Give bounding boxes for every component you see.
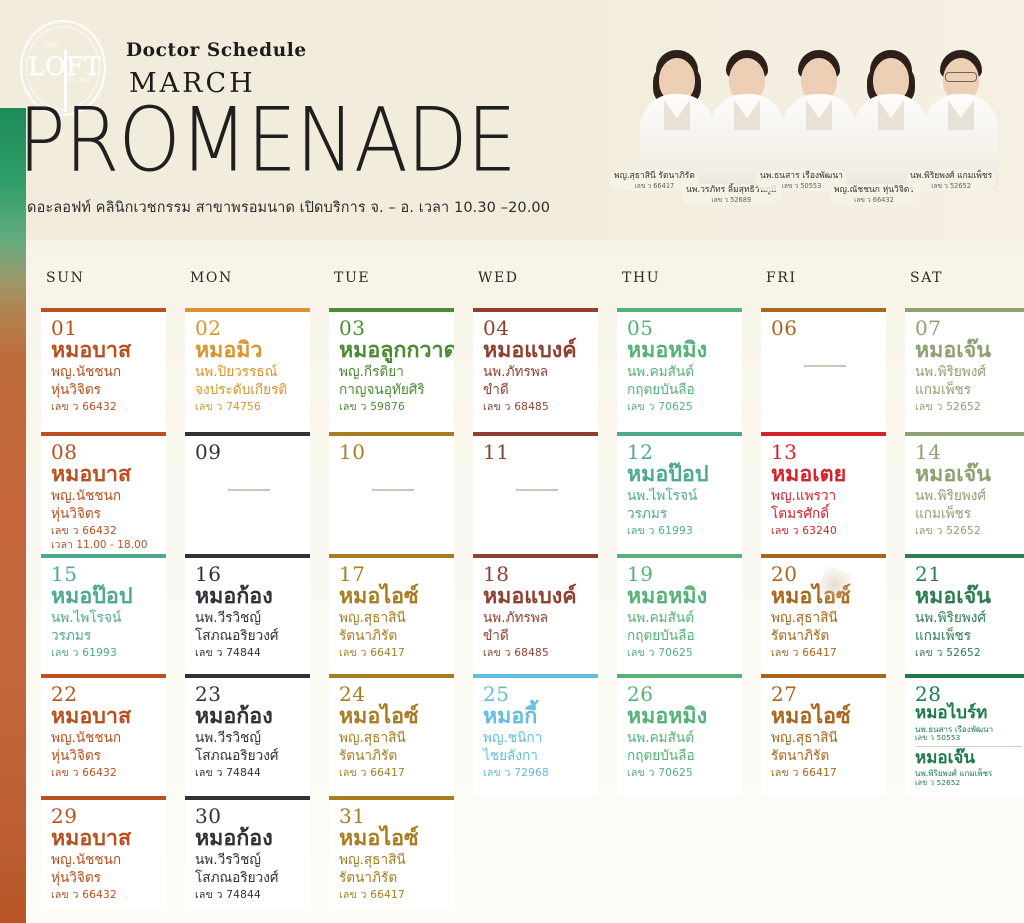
calendar-day-cell-17[interactable]: 17หมอไอซ์พญ.สุธาสินีรัตนาภิรัตเลข ว 6641…: [329, 554, 454, 674]
doctor-photo-strip: พญ.สุธาสินี รัตนาภิรัตเลข ว 66417นพ.วรภั…: [624, 8, 1024, 208]
day-number: 30: [195, 806, 302, 827]
logo-the-text: THE: [44, 42, 59, 49]
doctor-license: เลข ว 70625: [627, 401, 734, 415]
doctor-license: เลข ว 74756: [195, 401, 302, 415]
weekday-header-wed: WED: [478, 270, 519, 286]
doctor-nickname: หมอหมิง: [627, 338, 734, 363]
doctor-license: เลข ว 68485: [483, 647, 590, 661]
doctor-license: เลข ว 66432: [51, 525, 158, 539]
doctor-fullname: นพ.พิริยพงศ์แกมเพ็ชร: [915, 610, 1022, 645]
day-number: 11: [483, 442, 590, 463]
weekday-header-sat: SAT: [910, 270, 943, 286]
calendar-day-cell-16[interactable]: 16หมอก้องนพ.วีรวิชญ์โสภณอริยวงศ์เลข ว 74…: [185, 554, 310, 674]
doctor-fullname: นพ.วีรวิชญ์โสภณอริยวงศ์: [195, 730, 302, 765]
doctor-nickname: หมอเตย: [771, 462, 878, 487]
doctor-photo-caption-5: นพ.พิริยพงศ์ แกมเพ็ชรเลข ว 52652: [906, 170, 996, 191]
day-number: 04: [483, 318, 590, 339]
day-number: 23: [195, 684, 302, 705]
doctor-license: เลข ว 72968: [483, 767, 590, 781]
doctor-nickname: หมอบาส: [51, 826, 158, 851]
calendar-day-cell-30[interactable]: 30หมอก้องนพ.วีรวิชญ์โสภณอริยวงศ์เลข ว 74…: [185, 796, 310, 909]
day-number: 02: [195, 318, 302, 339]
doctor-nickname: หมอลูกกวาด: [339, 338, 446, 363]
day-number: 10: [339, 442, 446, 463]
calendar-column-thu: 05หมอหมิงนพ.คมสันต์กฤตยบันลือเลข ว 70625…: [617, 308, 742, 796]
logo-wordmark: LOFT: [28, 52, 98, 81]
doctor-fullname: พญ.นัชชนกหุ่นวิจิตร: [51, 364, 158, 399]
calendar-day-cell-05[interactable]: 05หมอหมิงนพ.คมสันต์กฤตยบันลือเลข ว 70625: [617, 308, 742, 432]
doctor-license: เลข ว 74844: [195, 889, 302, 903]
day-number: 16: [195, 564, 302, 585]
doctor-fullname: พญ.นัชชนกหุ่นวิจิตร: [51, 730, 158, 765]
doctor-fullname: นพ.ภัทรพลขำดี: [483, 364, 590, 399]
calendar-day-cell-20[interactable]: 20หมอไอซ์พญ.สุธาสินีรัตนาภิรัตเลข ว 6641…: [761, 554, 886, 674]
day-number: 12: [627, 442, 734, 463]
doctor-fullname: นพ.คมสันต์กฤตยบันลือ: [627, 610, 734, 645]
calendar-column-wed: 04หมอแบงค์นพ.ภัทรพลขำดีเลข ว 684851118หม…: [473, 308, 598, 796]
calendar-day-cell-19[interactable]: 19หมอหมิงนพ.คมสันต์กฤตยบันลือเลข ว 70625: [617, 554, 742, 674]
calendar-day-cell-22[interactable]: 22หมอบาสพญ.นัชชนกหุ่นวิจิตรเลข ว 66432: [41, 674, 166, 796]
doctor-photo-name: พญ.ณัชชนก หุ่นวิจิตร: [834, 185, 914, 196]
calendar-day-cell-06[interactable]: 06: [761, 308, 886, 432]
doctor-fullname: นพ.วีรวิชญ์โสภณอริยวงศ์: [195, 610, 302, 645]
doctor-nickname: หมอไอซ์: [771, 704, 878, 729]
day-number: 27: [771, 684, 878, 705]
doctor-fullname: พญ.สุธาสินีรัตนาภิรัต: [339, 852, 446, 887]
doctor-photo-caption-4: พญ.ณัชชนก หุ่นวิจิตรเลข ว 66432: [830, 184, 918, 205]
calendar-day-cell-09[interactable]: 09: [185, 432, 310, 554]
doctor-fullname: พญ.แพรวาโตมรศักดิ์: [771, 488, 878, 523]
doctor-license: เลข ว 70625: [627, 767, 734, 781]
calendar-day-cell-08[interactable]: 08หมอบาสพญ.นัชชนกหุ่นวิจิตรเลข ว 66432เว…: [41, 432, 166, 554]
day-number: 22: [51, 684, 158, 705]
weekday-header-mon: MON: [190, 270, 233, 286]
weekday-header-tue: TUE: [334, 270, 370, 286]
calendar-column-mon: 02หมอมิวนพ.ปิยวรรธณ์จงประดับเกียรติเลข ว…: [185, 308, 310, 909]
doctor-license-secondary: เลข ว 52652: [915, 779, 1022, 788]
day-number: 14: [915, 442, 1022, 463]
day-number: 05: [627, 318, 734, 339]
doctor-nickname: หมอป๊อป: [51, 584, 158, 609]
calendar-day-cell-01[interactable]: 01หมอบาสพญ.นัชชนกหุ่นวิจิตรเลข ว 66432: [41, 308, 166, 432]
calendar-column-sun: 01หมอบาสพญ.นัชชนกหุ่นวิจิตรเลข ว 6643208…: [41, 308, 166, 909]
doctor-nickname: หมอป๊อป: [627, 462, 734, 487]
calendar-day-cell-26[interactable]: 26หมอหมิงนพ.คมสันต์กฤตยบันลือเลข ว 70625: [617, 674, 742, 796]
doctor-license: เลข ว 61993: [627, 525, 734, 539]
doctor-nickname: หมอไอซ์: [339, 584, 446, 609]
weekday-header-thu: THU: [622, 270, 660, 286]
doctor-nickname: หมอหมิง: [627, 584, 734, 609]
calendar-day-cell-03[interactable]: 03หมอลูกกวาดพญ.กีรติยากาญจนอุทัยศิริเลข …: [329, 308, 454, 432]
doctor-license: เลข ว 66432: [51, 767, 158, 781]
doctor-license: เลข ว 70625: [627, 647, 734, 661]
day-number: 01: [51, 318, 158, 339]
doctor-nickname: หมอไอซ์: [339, 704, 446, 729]
day-number: 07: [915, 318, 1022, 339]
calendar-day-cell-31[interactable]: 31หมอไอซ์พญ.สุธาสินีรัตนาภิรัตเลข ว 6641…: [329, 796, 454, 909]
left-gradient-spine: [0, 108, 26, 923]
calendar-column-sat: 07หมอเจ๊นนพ.พิริยพงศ์แกมเพ็ชรเลข ว 52652…: [905, 308, 1024, 796]
day-number: 26: [627, 684, 734, 705]
doctor-entry-separator: [915, 746, 1022, 747]
doctor-photo-name: พญ.สุธาสินี รัตนาภิรัต: [614, 171, 695, 182]
header-band: THE LOFT CLINIC Doctor Schedule MARCH PR…: [0, 0, 1024, 240]
doctor-nickname: หมอบาส: [51, 338, 158, 363]
doctor-license: เลข ว 68485: [483, 401, 590, 415]
calendar-day-cell-10[interactable]: 10: [329, 432, 454, 554]
doctor-license: เลข ว 50553: [915, 734, 1022, 743]
day-number: 17: [339, 564, 446, 585]
eyebrow-doctor-schedule: Doctor Schedule: [126, 40, 307, 61]
doctor-nickname: หมอไอซ์: [771, 584, 878, 609]
doctor-fullname: นพ.วีรวิชญ์โสภณอริยวงศ์: [195, 852, 302, 887]
doctor-photo-name: นพ.พิริยพงศ์ แกมเพ็ชร: [910, 171, 992, 182]
doctor-nickname: หมอมิว: [195, 338, 302, 363]
doctor-fullname: นพ.ปิยวรรธณ์จงประดับเกียรติ: [195, 364, 302, 399]
doctor-fullname: พญ.สุธาสินีรัตนาภิรัต: [339, 610, 446, 645]
doctor-fullname: พญ.นัชชนกหุ่นวิจิตร: [51, 852, 158, 887]
calendar-day-cell-02[interactable]: 02หมอมิวนพ.ปิยวรรธณ์จงประดับเกียรติเลข ว…: [185, 308, 310, 432]
calendar-day-cell-07[interactable]: 07หมอเจ๊นนพ.พิริยพงศ์แกมเพ็ชรเลข ว 52652: [905, 308, 1024, 432]
doctor-license: เลข ว 52652: [915, 647, 1022, 661]
doctor-license: เลข ว 66417: [771, 767, 878, 781]
day-number: 13: [771, 442, 878, 463]
weekday-header-sun: SUN: [46, 270, 84, 286]
day-number: 15: [51, 564, 158, 585]
doctor-fullname: พญ.สุธาสินีรัตนาภิรัต: [771, 610, 878, 645]
doctor-license: เลข ว 74844: [195, 767, 302, 781]
doctor-time-note: เวลา 11.00 - 18.00: [51, 539, 158, 553]
day-number: 28: [915, 684, 1022, 705]
branch-title: PROMENADE: [18, 100, 516, 181]
doctor-fullname: นพ.คมสันต์กฤตยบันลือ: [627, 730, 734, 765]
doctor-nickname: หมอไอซ์: [339, 826, 446, 851]
doctor-license: เลข ว 63240: [771, 525, 878, 539]
doctor-nickname: หมอเจ๊น: [915, 462, 1022, 487]
doctor-nickname: หมอบาส: [51, 704, 158, 729]
doctor-photo-license: เลข ว 52689: [686, 196, 777, 204]
glasses-icon: [945, 72, 977, 82]
no-doctor-dash: [372, 489, 414, 491]
calendar-grid: SUNMONTUEWEDTHUFRISAT 01หมอบาสพญ.นัชชนกห…: [0, 240, 1024, 923]
calendar-day-cell-14[interactable]: 14หมอเจ๊นนพ.พิริยพงศ์แกมเพ็ชรเลข ว 52652: [905, 432, 1024, 554]
doctor-license: เลข ว 66417: [339, 647, 446, 661]
doctor-nickname: หมอเจ๊น: [915, 584, 1022, 609]
logo-clinic-text: CLINIC: [68, 78, 92, 84]
calendar-day-cell-15[interactable]: 15หมอป๊อปนพ.ไพโรจน์วรภมรเลข ว 61993: [41, 554, 166, 674]
doctor-fullname: นพ.ไพโรจน์วรภมร: [51, 610, 158, 645]
day-number: 18: [483, 564, 590, 585]
doctor-nickname: หมอแบงค์: [483, 584, 590, 609]
doctor-fullname: นพ.พิริยพงศ์แกมเพ็ชร: [915, 488, 1022, 523]
no-doctor-dash: [228, 489, 270, 491]
doctor-license: เลข ว 52652: [915, 401, 1022, 415]
doctor-photo-name: นพ.ธนสาร เรืองพัฒนา: [760, 171, 843, 182]
calendar-day-cell-11[interactable]: 11: [473, 432, 598, 554]
clinic-hours-subtitle: เดอะลอฟท์ คลินิกเวชกรรม สาขาพรอมนาด เปิด…: [22, 196, 550, 219]
doctor-nickname: หมอกี้: [483, 704, 590, 729]
calendar-day-cell-12[interactable]: 12หมอป๊อปนพ.ไพโรจน์วรภมรเลข ว 61993: [617, 432, 742, 554]
calendar-day-cell-28[interactable]: 28หมอไบร์ทนพ.ธนสาร เรืองพัฒนาเลข ว 50553…: [905, 674, 1024, 796]
calendar-day-cell-23[interactable]: 23หมอก้องนพ.วีรวิชญ์โสภณอริยวงศ์เลข ว 74…: [185, 674, 310, 796]
day-number: 20: [771, 564, 878, 585]
doctor-nickname: หมอแบงค์: [483, 338, 590, 363]
day-number: 25: [483, 684, 590, 705]
doctor-license: เลข ว 66417: [339, 767, 446, 781]
day-number: 08: [51, 442, 158, 463]
doctor-nickname: หมอไบร์ท: [915, 704, 1022, 724]
doctor-fullname: นพ.พิริยพงศ์แกมเพ็ชร: [915, 364, 1022, 399]
calendar-column-tue: 03หมอลูกกวาดพญ.กีรติยากาญจนอุทัยศิริเลข …: [329, 308, 454, 909]
day-number: 31: [339, 806, 446, 827]
calendar-day-cell-25[interactable]: 25หมอกี้พญ.ชนิกาไชยลังกาเลข ว 72968: [473, 674, 598, 796]
doctor-license: เลข ว 66432: [51, 401, 158, 415]
day-number: 29: [51, 806, 158, 827]
day-number: 09: [195, 442, 302, 463]
doctor-nickname: หมอก้อง: [195, 704, 302, 729]
doctor-license: เลข ว 74844: [195, 647, 302, 661]
doctor-license: เลข ว 61993: [51, 647, 158, 661]
doctor-nickname: หมอก้อง: [195, 826, 302, 851]
no-doctor-dash: [804, 365, 846, 367]
calendar-day-cell-21[interactable]: 21หมอเจ๊นนพ.พิริยพงศ์แกมเพ็ชรเลข ว 52652: [905, 554, 1024, 674]
doctor-fullname: พญ.กีรติยากาญจนอุทัยศิริ: [339, 364, 446, 399]
doctor-nickname: หมอหมิง: [627, 704, 734, 729]
weekday-header-row: SUNMONTUEWEDTHUFRISAT: [0, 270, 1024, 296]
day-number: 24: [339, 684, 446, 705]
doctor-photo-license: เลข ว 66432: [834, 196, 914, 204]
doctor-nickname: หมอบาส: [51, 462, 158, 487]
calendar-day-cell-13[interactable]: 13หมอเตยพญ.แพรวาโตมรศักดิ์เลข ว 63240: [761, 432, 886, 554]
doctor-fullname: นพ.ไพโรจน์วรภมร: [627, 488, 734, 523]
doctor-fullname: นพ.คมสันต์กฤตยบันลือ: [627, 364, 734, 399]
calendar-column-fri: 0613หมอเตยพญ.แพรวาโตมรศักดิ์เลข ว 632402…: [761, 308, 886, 796]
doctor-fullname: พญ.สุธาสินีรัตนาภิรัต: [339, 730, 446, 765]
doctor-license: เลข ว 66417: [339, 889, 446, 903]
doctor-license: เลข ว 66417: [771, 647, 878, 661]
doctor-fullname: พญ.ชนิกาไชยลังกา: [483, 730, 590, 765]
day-number: 06: [771, 318, 878, 339]
day-number: 21: [915, 564, 1022, 585]
calendar-day-cell-04[interactable]: 04หมอแบงค์นพ.ภัทรพลขำดีเลข ว 68485: [473, 308, 598, 432]
doctor-nickname: หมอก้อง: [195, 584, 302, 609]
doctor-license: เลข ว 66432: [51, 889, 158, 903]
calendar-day-cell-18[interactable]: 18หมอแบงค์นพ.ภัทรพลขำดีเลข ว 68485: [473, 554, 598, 674]
day-number: 03: [339, 318, 446, 339]
calendar-day-cell-29[interactable]: 29หมอบาสพญ.นัชชนกหุ่นวิจิตรเลข ว 66432: [41, 796, 166, 909]
doctor-photo-5: [916, 40, 1006, 190]
weekday-header-fri: FRI: [766, 270, 797, 286]
doctor-nickname: หมอเจ๊น: [915, 338, 1022, 363]
doctor-fullname: พญ.สุธาสินีรัตนาภิรัต: [771, 730, 878, 765]
calendar-day-cell-27[interactable]: 27หมอไอซ์พญ.สุธาสินีรัตนาภิรัตเลข ว 6641…: [761, 674, 886, 796]
doctor-fullname: พญ.นัชชนกหุ่นวิจิตร: [51, 488, 158, 523]
doctor-fullname: นพ.ภัทรพลขำดี: [483, 610, 590, 645]
doctor-nickname-secondary: หมอเจ๊น: [915, 749, 1022, 769]
calendar-day-cell-24[interactable]: 24หมอไอซ์พญ.สุธาสินีรัตนาภิรัตเลข ว 6641…: [329, 674, 454, 796]
doctor-license: เลข ว 52652: [915, 525, 1022, 539]
doctor-license: เลข ว 59876: [339, 401, 446, 415]
doctor-photo-license: เลข ว 52652: [910, 182, 992, 190]
no-doctor-dash: [516, 489, 558, 491]
day-number: 19: [627, 564, 734, 585]
